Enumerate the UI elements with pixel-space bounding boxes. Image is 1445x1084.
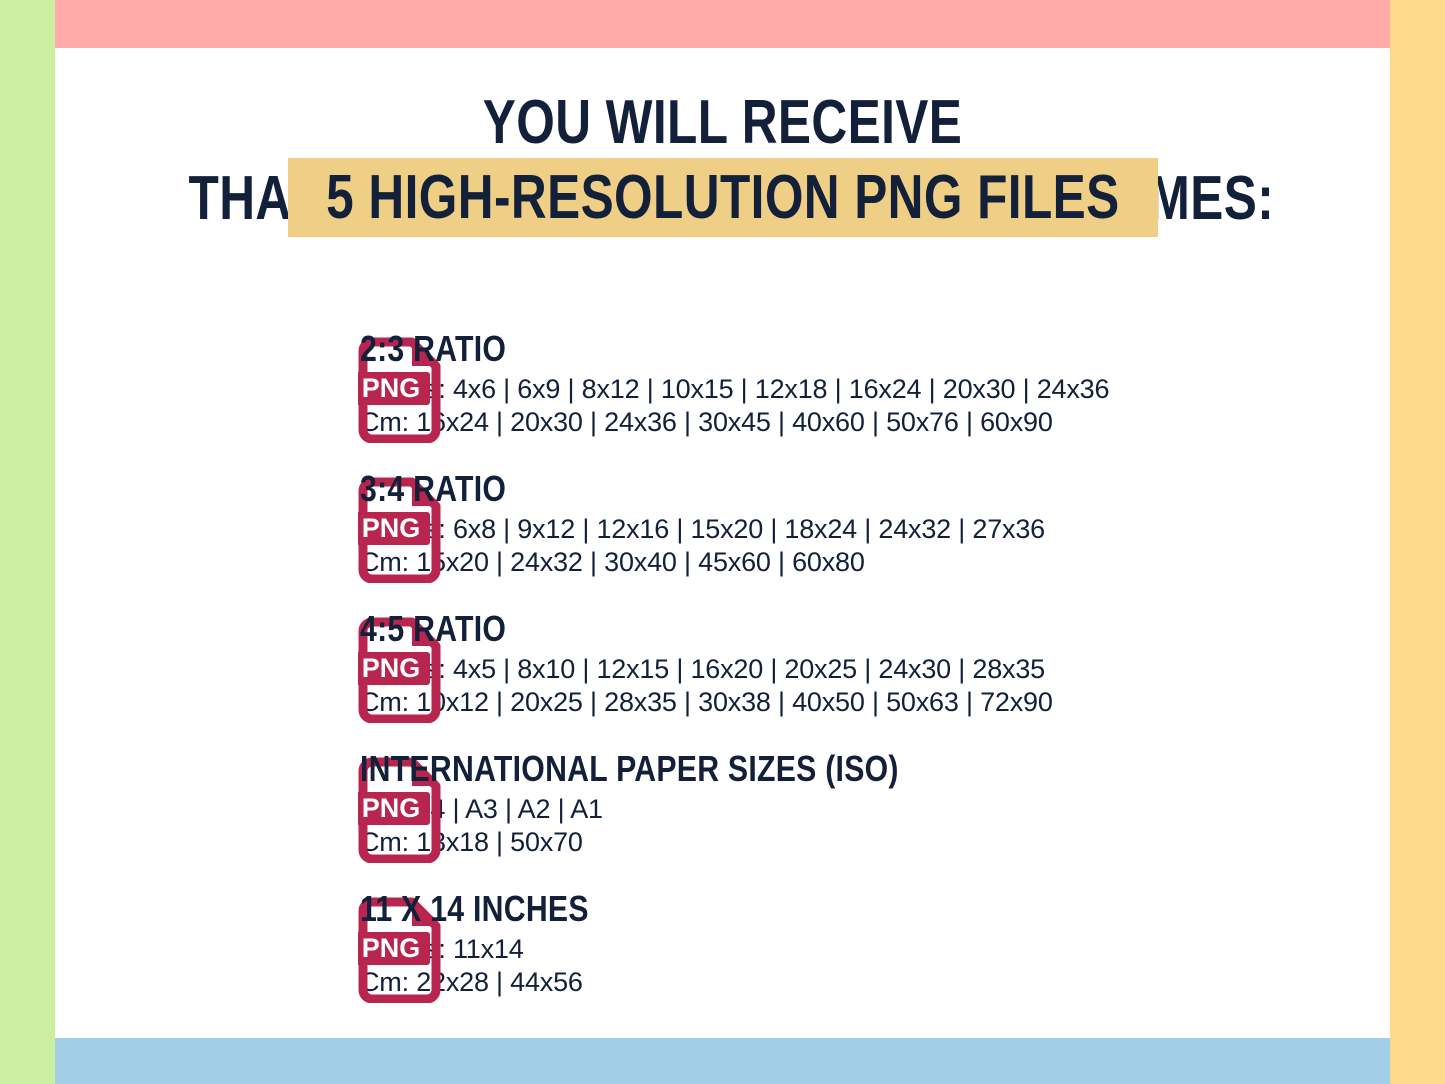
decorative-band-left-green — [0, 0, 55, 1084]
row-cm-line: Cm: 13x18 | 50x70 — [360, 826, 1390, 859]
row-inches-line: Inches: 4x6 | 6x9 | 8x12 | 10x15 | 12x18… — [360, 373, 1390, 406]
row-detail-group: Inches: 4x5 | 8x10 | 12x15 | 16x20 | 20x… — [360, 647, 1390, 719]
row-detail-group: Inches: 11x14 Cm: 22x28 | 44x56 — [360, 927, 1390, 999]
decorative-band-right-yellow — [1390, 0, 1445, 1084]
frame-size-list: PNG 2:3 RATIO Inches: 4x6 | 6x9 | 8x12 |… — [55, 325, 1390, 1025]
row-detail-group: Inches: 6x8 | 9x12 | 12x16 | 15x20 | 18x… — [360, 507, 1390, 579]
headline-highlight-banner: 5 HIGH-RESOLUTION PNG FILES — [288, 158, 1158, 237]
page-canvas: YOU WILL RECEIVE THAT CAN FIT IN THE FOL… — [0, 0, 1445, 1084]
row-cm-line: Cm: 22x28 | 44x56 — [360, 966, 1390, 999]
row-inches-line: Inches: 6x8 | 9x12 | 12x16 | 15x20 | 18x… — [360, 513, 1390, 546]
row-inches-line: A5 | A4 | A3 | A2 | A1 — [360, 793, 1390, 826]
row-cm-line: Cm: 16x24 | 20x30 | 24x36 | 30x45 | 40x6… — [360, 406, 1390, 439]
svg-text:PNG: PNG — [362, 513, 421, 543]
row-title: 11 X 14 INCHES — [360, 885, 1225, 927]
decorative-band-top-pink — [55, 0, 1390, 48]
row-detail-group: A5 | A4 | A3 | A2 | A1 Cm: 13x18 | 50x70 — [360, 787, 1390, 859]
row-cm-line: Cm: 10x12 | 20x25 | 28x35 | 30x38 | 40x5… — [360, 686, 1390, 719]
row-title: 2:3 RATIO — [360, 325, 1225, 367]
decorative-band-bottom-blue — [55, 1038, 1390, 1084]
row-title: 3:4 RATIO — [360, 465, 1225, 507]
headline-line-1: YOU WILL RECEIVE — [189, 92, 1257, 154]
svg-text:PNG: PNG — [362, 373, 421, 403]
list-item: PNG 3:4 RATIO Inches: 6x8 | 9x12 | 12x16… — [55, 465, 1390, 605]
list-item: PNG INTERNATIONAL PAPER SIZES (ISO) A5 |… — [55, 745, 1390, 885]
row-inches-line: Inches: 4x5 | 8x10 | 12x15 | 16x20 | 20x… — [360, 653, 1390, 686]
row-inches-line: Inches: 11x14 — [360, 933, 1390, 966]
row-detail-group: Inches: 4x6 | 6x9 | 8x12 | 10x15 | 12x18… — [360, 367, 1390, 439]
row-title: INTERNATIONAL PAPER SIZES (ISO) — [360, 745, 1225, 787]
row-cm-line: Cm: 15x20 | 24x32 | 30x40 | 45x60 | 60x8… — [360, 546, 1390, 579]
svg-text:PNG: PNG — [362, 933, 421, 963]
list-item: PNG 2:3 RATIO Inches: 4x6 | 6x9 | 8x12 |… — [55, 325, 1390, 465]
svg-text:PNG: PNG — [362, 793, 421, 823]
row-title: 4:5 RATIO — [360, 605, 1225, 647]
svg-text:PNG: PNG — [362, 653, 421, 683]
list-item: PNG 11 X 14 INCHES Inches: 11x14 Cm: 22x… — [55, 885, 1390, 1025]
list-item: PNG 4:5 RATIO Inches: 4x5 | 8x10 | 12x15… — [55, 605, 1390, 745]
headline-line-2: 5 HIGH-RESOLUTION PNG FILES — [326, 167, 1119, 229]
